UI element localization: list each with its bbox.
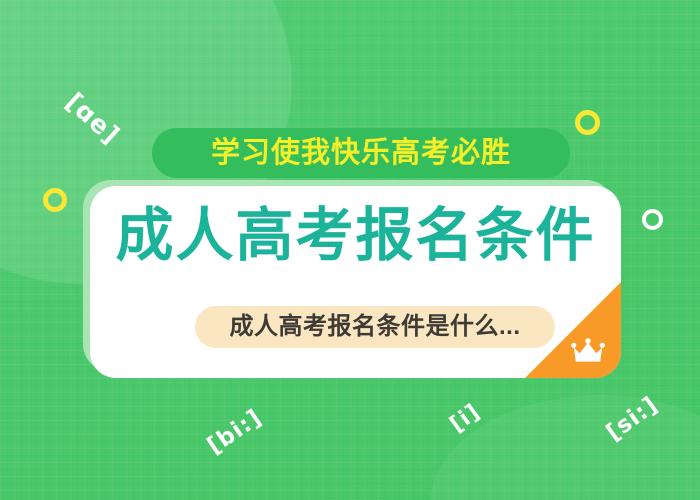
subtitle-pill: 成人高考报名条件是什么... xyxy=(195,306,555,348)
slogan-banner: 学习使我快乐高考必胜 xyxy=(152,128,570,178)
slogan-banner-text: 学习使我快乐高考必胜 xyxy=(211,139,511,168)
ring-yellow-left-icon xyxy=(43,188,67,212)
ring-yellow-right-icon xyxy=(575,110,600,135)
page-title: 成人高考报名条件 xyxy=(90,207,621,265)
subtitle-text: 成人高考报名条件是什么... xyxy=(229,315,520,339)
poster-canvas: [ɑe] [bi:] [i] [si:] 学习使我快乐高考必胜 成人高考报名条件… xyxy=(0,0,700,500)
ring-white-right-icon xyxy=(642,209,663,230)
crown-icon xyxy=(571,338,605,364)
main-card: 成人高考报名条件 成人高考报名条件是什么... xyxy=(90,186,621,378)
